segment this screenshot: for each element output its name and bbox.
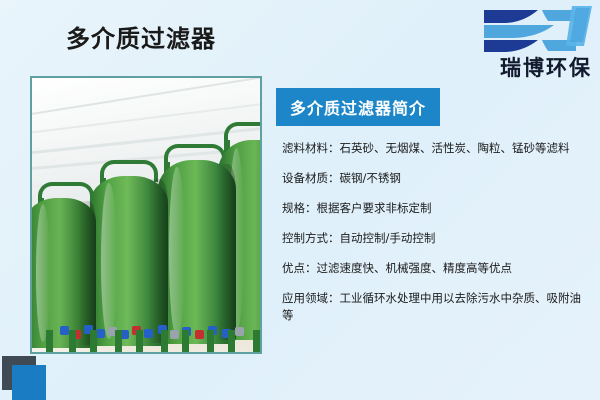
page-title: 多介质过滤器 [66,24,216,54]
info-row: 优点：过滤速度快、机械强度、精度高等优点 [282,260,588,277]
info-row: 设备材质：碳钢/不锈钢 [282,170,588,187]
tank-outlet-pipe [228,330,260,352]
filter-tank [90,176,168,346]
filter-tank [158,160,236,344]
info-panel-list: 滤料材料：石英砂、无烟煤、活性炭、陶粒、锰砂等滤料 设备材质：碳钢/不锈钢 规格… [282,140,588,337]
info-panel-heading: 多介质过滤器简介 [276,88,440,126]
info-panel-heading-label: 多介质过滤器简介 [290,95,426,119]
tank-outlet-pipe [182,330,214,352]
company-logo: 瑞博环保 [444,4,594,86]
corner-squares-decoration [0,356,48,400]
info-row: 控制方式：自动控制/手动控制 [282,230,588,247]
product-photo [30,76,262,354]
slide-canvas: 多介质过滤器 瑞博环保 [0,0,600,400]
logo-text: 瑞博环保 [444,52,592,82]
info-row: 应用领域：工业循环水处理中用以去除污水中杂质、吸附油等 [282,290,588,324]
wave-bars-logo-mark-icon [480,6,592,54]
tank-outlet-pipe [90,330,122,352]
corner-square-blue [12,365,46,400]
tank-outlet-pipe [46,330,76,352]
info-row: 滤料材料：石英砂、无烟煤、活性炭、陶粒、锰砂等滤料 [282,140,588,157]
product-photo-image [32,78,260,352]
info-row: 规格：根据客户要求非标定制 [282,200,588,217]
tank-outlet-pipe [136,330,168,352]
